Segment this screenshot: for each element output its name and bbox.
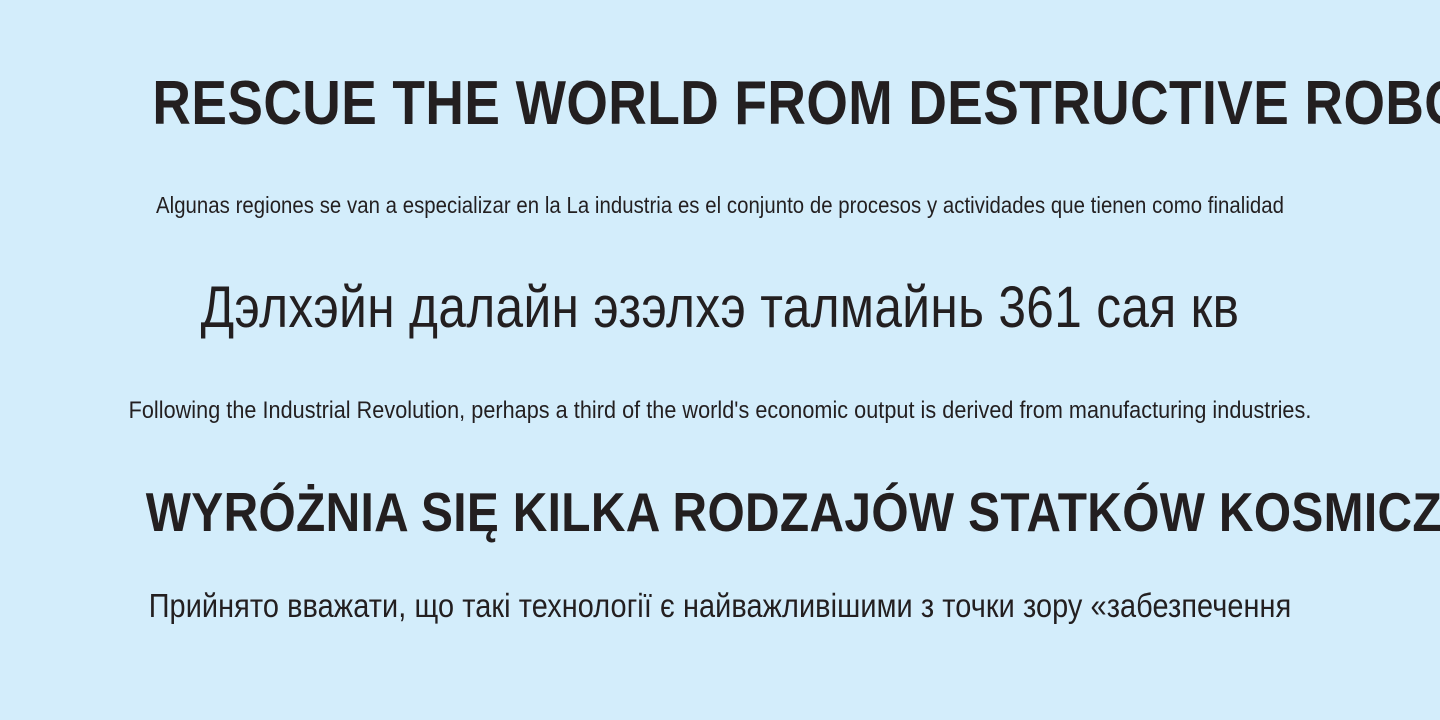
specimen-line-heading-polish: WYRÓŻNIA SIĘ KILKA RODZAJÓW STATKÓW KOSM… — [94, 483, 1347, 541]
mongolian-text-trailing: сая кв — [1082, 275, 1239, 340]
specimen-line-display-mongolian: Дэлхэйн далайн эзэлхэ талмайнь 361 сая к… — [104, 275, 1335, 341]
typeface-specimen-page: RESCUE THE WORLD FROM DESTRUCTIVE ROBOTS… — [0, 0, 1440, 720]
mongolian-text-leading: Дэлхэйн далайн эзэлхэ талмайнь — [201, 275, 999, 340]
specimen-line-body-spanish: Algunas regiones se van a especializar e… — [83, 191, 1357, 219]
oldstyle-figures: 361 — [998, 275, 1082, 340]
specimen-line-heading-primary: RESCUE THE WORLD FROM DESTRUCTIVE ROBOTS — [101, 72, 1339, 136]
specimen-line-body-ukrainian: Прийнято вважати, що такі технології є н… — [90, 586, 1350, 626]
specimen-line-body-english: Following the Industrial Revolution, per… — [72, 396, 1368, 425]
